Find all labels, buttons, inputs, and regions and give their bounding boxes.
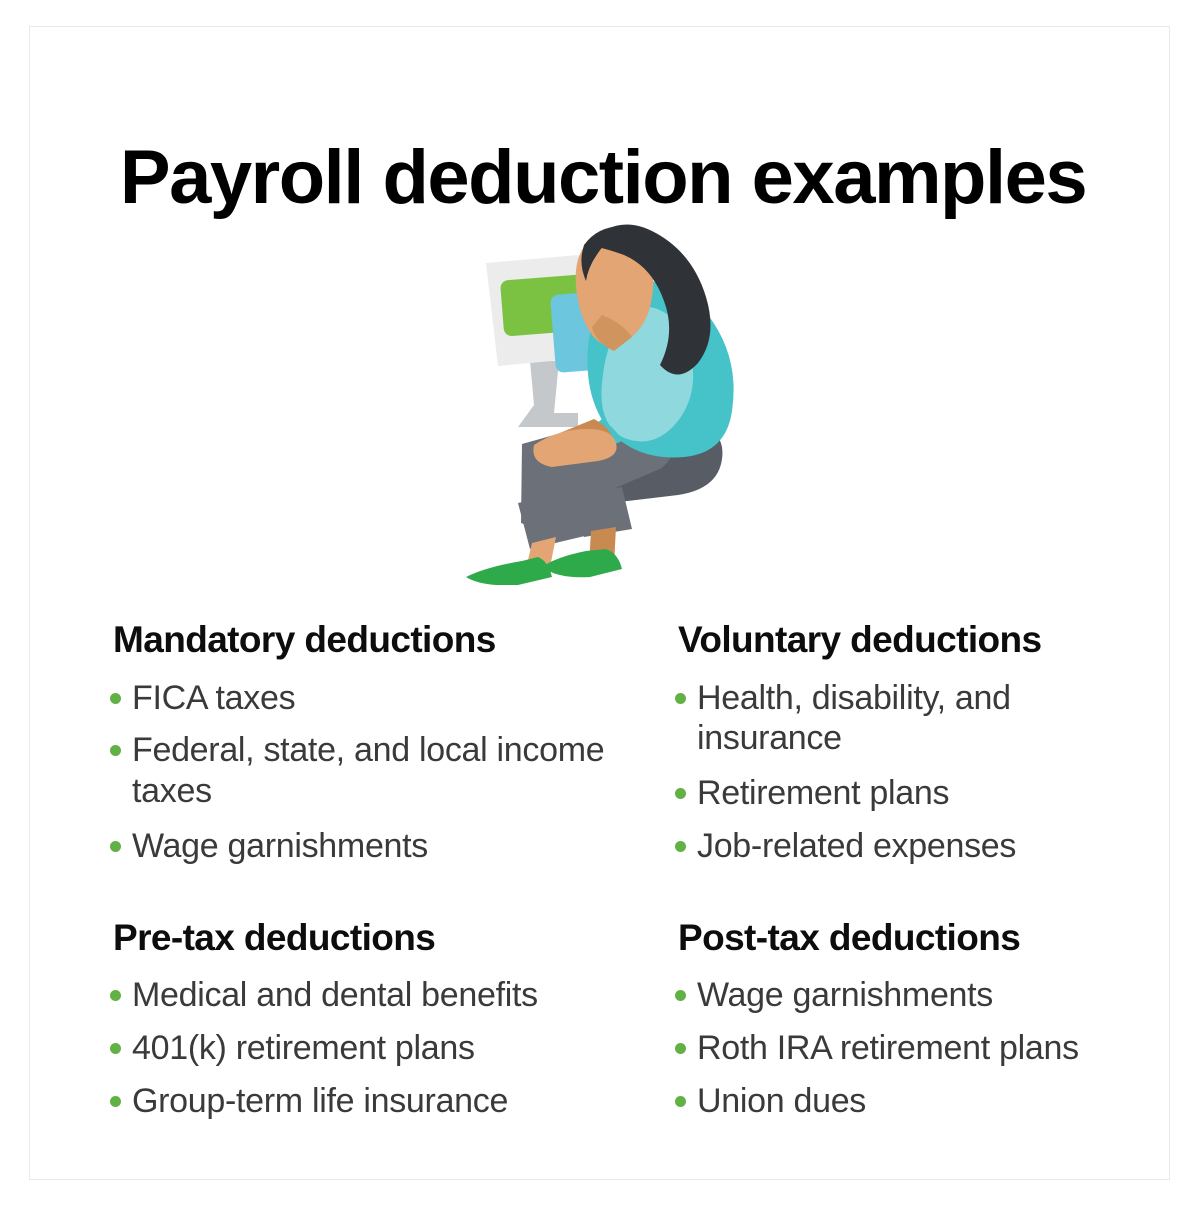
list-item-label: Wage garnishments [132,827,428,865]
list-item-label: Health, disability, and insurance [697,679,1011,758]
section-posttax: Post-tax deductions Wage garnishments Ro… [663,917,1108,1122]
list-item: Roth IRA retirement plans [663,1028,1108,1069]
list-item-label: Retirement plans [697,774,949,812]
bullet-dot-icon [675,1096,686,1107]
woman-working-at-computer-illustration [426,205,776,585]
bullet-dot-icon [675,788,686,799]
list-item: Group-term life insurance [98,1081,663,1122]
bullet-list-pretax: Medical and dental benefits 401(k) retir… [98,975,663,1121]
list-item: Union dues [663,1081,1108,1122]
bullet-dot-icon [675,841,686,852]
section-voluntary: Voluntary deductions Health, disability,… [663,619,1108,867]
list-item: Wage garnishments [98,826,663,867]
infographic-card: Payroll deduction examples [29,26,1170,1180]
list-item-label: Union dues [697,1082,866,1120]
bullet-dot-icon [110,745,121,756]
bullet-list-voluntary: Health, disability, and insurance Retire… [663,678,1108,867]
bullet-dot-icon [675,693,686,704]
deduction-sections: Mandatory deductions FICA taxes Federal,… [98,619,1108,1122]
list-item-label: FICA taxes [132,679,295,717]
section-heading-posttax: Post-tax deductions [678,917,1108,960]
bullet-dot-icon [110,693,121,704]
list-item: 401(k) retirement plans [98,1028,663,1069]
list-item-label: Medical and dental benefits [132,976,538,1014]
bullet-dot-icon [675,990,686,1001]
list-item: Medical and dental benefits [98,975,663,1016]
shoe-back-icon [542,549,622,577]
section-heading-mandatory: Mandatory deductions [113,619,663,662]
shoe-front-icon [466,557,552,585]
list-item-label: Job-related expenses [697,827,1016,865]
list-item-label: Group-term life insurance [132,1082,508,1120]
list-item: Federal, state, and local income taxes [98,730,663,812]
list-item-label: Federal, state, and local income taxes [132,731,604,810]
list-item-label: Roth IRA retirement plans [697,1029,1079,1067]
list-item-label: Wage garnishments [697,976,993,1014]
bullet-dot-icon [110,990,121,1001]
list-item: Health, disability, and insurance [663,678,1108,760]
section-mandatory: Mandatory deductions FICA taxes Federal,… [98,619,663,867]
list-item-label: 401(k) retirement plans [132,1029,475,1067]
list-item: Wage garnishments [663,975,1108,1016]
list-item: FICA taxes [98,678,663,719]
bullet-list-mandatory: FICA taxes Federal, state, and local inc… [98,678,663,867]
bullet-dot-icon [110,841,121,852]
bullet-dot-icon [110,1096,121,1107]
list-item: Retirement plans [663,773,1108,814]
list-item: Job-related expenses [663,826,1108,867]
section-heading-voluntary: Voluntary deductions [678,619,1108,662]
bullet-dot-icon [675,1043,686,1054]
section-pretax: Pre-tax deductions Medical and dental be… [98,917,663,1122]
section-heading-pretax: Pre-tax deductions [113,917,663,960]
bullet-dot-icon [110,1043,121,1054]
bullet-list-posttax: Wage garnishments Roth IRA retirement pl… [663,975,1108,1121]
